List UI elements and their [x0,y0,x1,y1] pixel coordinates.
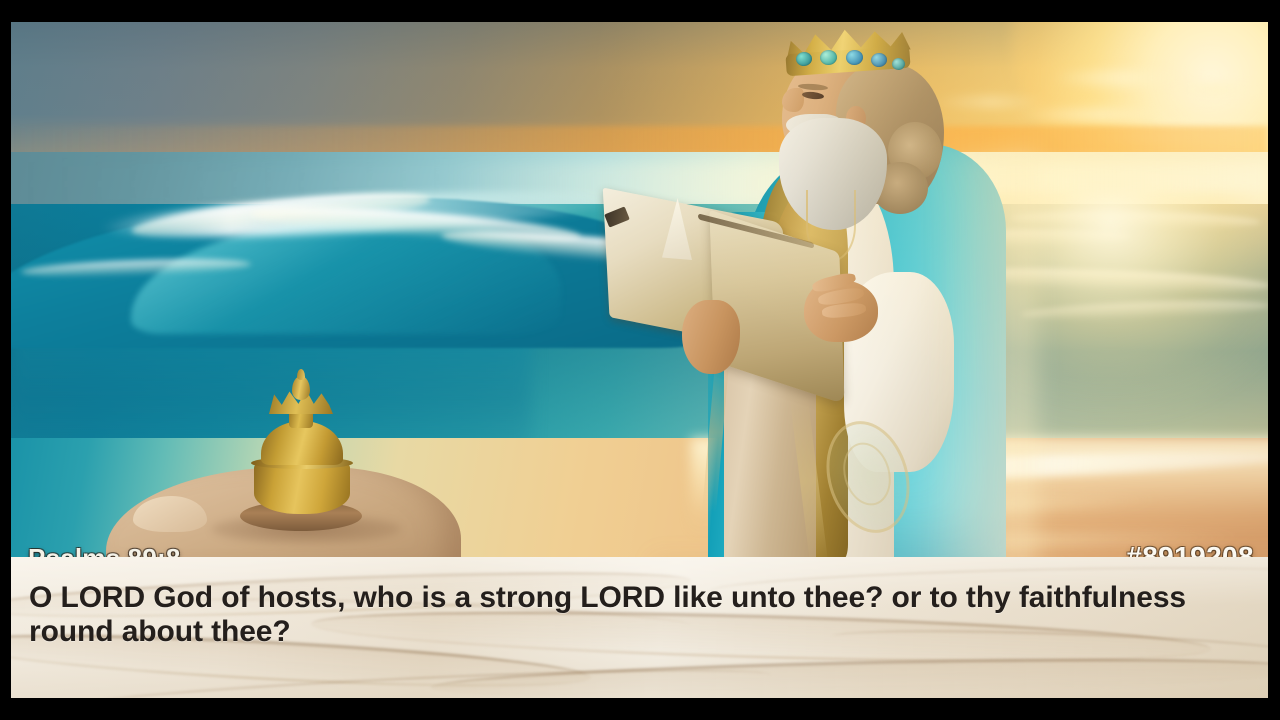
verse-card-screenshot: Psalms 89:8 #8919208 O LORD God of hosts… [0,0,1280,720]
letterbox-left [0,0,11,720]
scene-artwork: Psalms 89:8 #8919208 O LORD God of hosts… [11,22,1268,698]
golden-vessel-body [254,462,350,514]
cloud-streak [1161,84,1268,96]
letterbox-top [0,0,1280,22]
left-hand [682,300,740,374]
caption-banner: O LORD God of hosts, who is a strong LOR… [11,557,1268,698]
letterbox-right [1268,0,1280,720]
nose [782,88,804,112]
cloud-streak [1051,70,1201,86]
golden-vessel-tip [297,369,305,380]
letterbox-bottom [0,698,1280,720]
king-figure [596,22,1036,578]
verse-text: O LORD God of hosts, who is a strong LOR… [29,581,1261,649]
